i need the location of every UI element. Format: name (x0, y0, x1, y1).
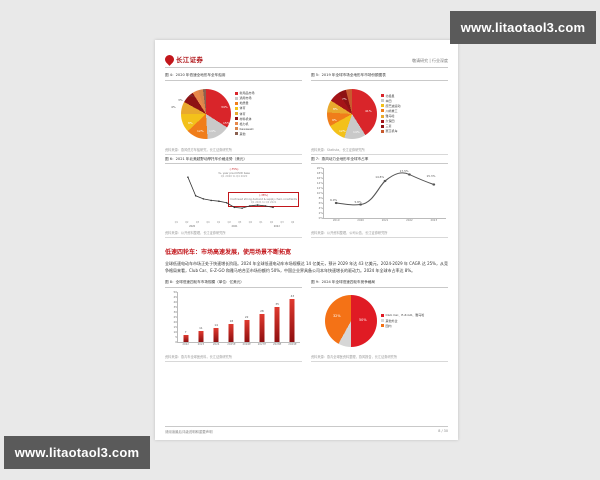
data-label: 5.8% (355, 200, 362, 204)
x-tick: 2023 (430, 219, 437, 222)
y-tick: 45 (173, 295, 177, 299)
figure-6-chart: (-75%) 3+ year pre-COVID base Q1 2020 to… (165, 166, 302, 228)
figure-5-chart: 北极星 本田 庞巴迪运动 川崎重工 雅马哈 久保田 三菱 赛艾机车 41% 14… (311, 83, 448, 145)
figure-4-title: 图 4：2020 年低速全地形车全车船用 (165, 73, 302, 78)
y-tick: 14% (317, 181, 323, 185)
body-paragraph: 全球低速电动车市场正处于快速增长阶段。2024 年全球低速电动车市场规模达 14… (165, 260, 448, 274)
figure-4-source-rule (165, 154, 302, 155)
x-tick: 2024 (213, 343, 220, 346)
x-tick: 2028E (273, 343, 281, 346)
legend-label: 三菱 (386, 124, 392, 128)
y-tick: 6% (319, 201, 323, 205)
figure-4-legend: 新用品市场 通用市场 地质量 体育 体育 材料机体 格力机 Kawasaki 其… (235, 91, 255, 136)
figure-8: 图 8：全球低速四轮车市场规模（单位：亿美元） 50 45 40 35 30 2… (165, 280, 302, 362)
legend-swatch (381, 104, 384, 107)
bar-value: 28 (260, 309, 264, 313)
legend-swatch (381, 115, 384, 118)
figure-8-chart: 50 45 40 35 30 25 20 15 10 5 0 7 11 14 (165, 290, 302, 352)
bar-value: 22 (245, 315, 249, 319)
x-tick: Q3 (281, 221, 284, 224)
legend-label: 久保田 (386, 119, 395, 123)
figure-7-rule (311, 163, 448, 164)
bar-value: 11 (199, 326, 203, 330)
figure-7-source-rule (311, 237, 448, 238)
legend-swatch (235, 112, 238, 115)
figure-6: 图 6：2021 年北美越野动摩托车价格走势（美元） (-75%) 3+ yea… (165, 157, 302, 239)
x-tick: Q1 (175, 221, 178, 224)
y-tick: 35 (173, 305, 177, 309)
y-tick: 0% (319, 216, 323, 220)
legend-swatch (235, 102, 238, 105)
watermark-top: www.litaotaol3.com (450, 11, 596, 44)
figure-4: 图 4：2020 年低速全地形车全车船用 新用品市场 通用市场 地质量 体育 体… (165, 73, 302, 155)
y-tick: 20 (173, 320, 177, 324)
legend-label: 国内 (386, 324, 392, 328)
x-tick: Q2 (185, 221, 188, 224)
legend-swatch (381, 99, 384, 102)
header-divider (165, 67, 448, 68)
figure-6-rule (165, 163, 302, 164)
figure-9-title: 图 9：2024 年全球低速四轮车竞争格局 (311, 280, 448, 285)
figure-5-source: 资料来源：Statista，长江证券研究所 (311, 147, 448, 152)
y-tick: 2% (319, 211, 323, 215)
figure-8-source: 资料来源：燕青车全球医资料，长江证券研究所 (165, 354, 302, 359)
legend-swatch (381, 125, 384, 128)
legend-swatch (381, 314, 384, 317)
legend-swatch (235, 92, 238, 95)
legend-label: 材料机体 (240, 117, 252, 121)
page-header: 长江证券 敬请研究 | 行业深度 (165, 48, 448, 64)
logo-mark-icon (163, 53, 176, 66)
y-tick: 50 (173, 290, 177, 294)
bar-value: 43 (291, 294, 295, 298)
legend-swatch (381, 120, 384, 123)
legend-label: 体育 (240, 106, 246, 110)
figures-grid: 图 4：2020 年低速全地形车全车船用 新用品市场 通用市场 地质量 体育 体… (165, 73, 448, 238)
x-tick: 2026E (243, 343, 251, 346)
x-tick: Q1 (259, 221, 262, 224)
watermark-bottom: www.litaotaol3.com (4, 436, 150, 469)
x-tick: Q3 (238, 221, 241, 224)
legend-swatch (235, 97, 238, 100)
bar-value: 7 (185, 330, 187, 334)
x-tick: Q4 (249, 221, 252, 224)
x-tick: 2019 (333, 219, 340, 222)
bar-value: 14 (214, 323, 218, 327)
logo-text: 长江证券 (176, 54, 203, 64)
group-label: 2021 (231, 225, 237, 228)
legend-swatch (381, 130, 384, 133)
figure-7: 图 7：燕风动力全地形车全球市占率 20% 18% 16% 14% 12% 10… (311, 157, 448, 239)
y-tick: 10 (173, 330, 177, 334)
figure-9-source-rule (311, 361, 448, 362)
figure-9-rule (311, 287, 448, 288)
figure-5-title: 图 5：2019 年全球市场全地形车市场份额图表 (311, 73, 448, 78)
legend-swatch (235, 107, 238, 110)
x-tick: Q2 (228, 221, 231, 224)
y-tick: 4% (319, 206, 323, 210)
bar: 22 (244, 320, 249, 342)
x-tick: 2022 (182, 343, 189, 346)
pie-chart-5 (327, 89, 377, 139)
x-tick: Q4 (206, 221, 209, 224)
figure-4-rule (165, 80, 302, 81)
bar-value: 18 (230, 319, 234, 323)
figure-6-title: 图 6：2021 年北美越野动摩托车价格走势（美元） (165, 157, 302, 162)
figure-6-line (171, 171, 292, 219)
bar-value: 35 (275, 302, 279, 306)
figure-9: 图 9：2024 年全球低速四轮车竞争格局 Club Car、E-Z-GO、雅马… (311, 280, 448, 362)
legend-label: 其他外企 (386, 319, 398, 323)
x-tick: 2027E (258, 343, 266, 346)
legend-label: Kawasaki (240, 127, 254, 131)
figures-grid-lower: 图 8：全球低速四轮车市场规模（单位：亿美元） 50 45 40 35 30 2… (165, 280, 448, 362)
data-label: 15.3% (426, 174, 435, 178)
legend-label: 地质量 (240, 101, 249, 105)
legend-label: 赛艾机车 (386, 129, 398, 133)
figure-8-source-rule (165, 361, 302, 362)
bar: 28 (259, 314, 264, 342)
x-tick: Q3 (196, 221, 199, 224)
x-tick: Q1 (217, 221, 220, 224)
figure-8-title: 图 8：全球低速四轮车市场规模（单位：亿美元） (165, 280, 302, 285)
y-tick: 12% (317, 186, 323, 190)
legend-label: 川崎重工 (386, 109, 398, 113)
x-tick: Q2 (270, 221, 273, 224)
legend-swatch (235, 117, 238, 120)
figure-5-source-rule (311, 154, 448, 155)
legend-swatch (235, 122, 238, 125)
document-page: 长江证券 敬请研究 | 行业深度 图 4：2020 年低速全地形车全车船用 新用… (155, 40, 458, 440)
y-tick: 5 (175, 335, 177, 339)
y-tick: 30 (173, 310, 177, 314)
x-tick: 2021 (382, 219, 389, 222)
y-tick: 15 (173, 325, 177, 329)
document-viewer[interactable]: 长江证券 敬请研究 | 行业深度 图 4：2020 年低速全地形车全车船用 新用… (0, 0, 600, 480)
bar: 43 (290, 299, 295, 342)
figure-4-source: 资料来源：燕风低方车船研究，长江证券研究所 (165, 147, 302, 152)
legend-swatch (381, 324, 384, 327)
x-tick: 2025E (227, 343, 235, 346)
figure-5: 图 5：2019 年全球市场全地形车市场份额图表 北极星 本田 庞巴迪运动 川崎… (311, 73, 448, 155)
bar: 11 (198, 331, 203, 342)
bar: 18 (229, 324, 234, 342)
data-label: 17.5% (400, 169, 409, 173)
figure-4-chart: 新用品市场 通用市场 地质量 体育 体育 材料机体 格力机 Kawasaki 其… (165, 83, 302, 145)
x-tick: 2029E (288, 343, 296, 346)
legend-swatch (381, 109, 384, 112)
footer-divider (165, 426, 448, 427)
figure-9-source: 资料来源：燕青全球医资料整理，燕风报告，长江证券研究所 (311, 354, 448, 359)
bar: 35 (275, 307, 280, 342)
figure-5-rule (311, 80, 448, 81)
figure-6-source-rule (165, 237, 302, 238)
footer-page-number: 8 / 30 (438, 429, 448, 434)
y-tick: 8% (319, 196, 323, 200)
figure-8-rule (165, 287, 302, 288)
figure-9-chart: Club Car、E-Z-GO、雅马哈 其他外企 国内 50% 32% (311, 290, 448, 352)
y-tick: 16% (317, 176, 323, 180)
figure-7-chart: 20% 18% 16% 14% 12% 10% 8% 6% 4% 2% 0% (311, 166, 448, 228)
y-tick: 18% (317, 171, 323, 175)
page-footer: 请阅读最后评级说明和重要声明 8 / 30 (165, 426, 448, 434)
legend-swatch (381, 94, 384, 97)
figure-7-source: 资料来源：公开资料整理，公司公告，长江证券研究所 (311, 230, 448, 235)
legend-label: 本田 (386, 99, 392, 103)
bar: 14 (214, 328, 219, 342)
figure-8-axes: 50 45 40 35 30 25 20 15 10 5 0 7 11 14 (177, 292, 300, 343)
legend-label: 庞巴迪运动 (386, 104, 401, 108)
pie-chart-4 (181, 89, 231, 139)
header-right-label: 敬请研究 | 行业深度 (412, 58, 448, 64)
legend-label: 北极星 (386, 94, 395, 98)
legend-label: 雅马哈 (386, 114, 395, 118)
figure-6-source: 资料来源：公开资料整理，长江证券研究所 (165, 230, 302, 235)
legend-label: 通用市场 (240, 96, 252, 100)
figure-6-xticks: Q1 Q2 Q3 Q4 Q1 Q2 Q3 Q4 Q1 Q2 Q3 Q4 (171, 221, 298, 224)
pie-chart-9 (325, 295, 377, 347)
data-label: 14.8% (375, 175, 384, 179)
bar: 7 (183, 335, 188, 342)
y-tick: 20% (317, 166, 323, 170)
y-tick: 10% (317, 191, 323, 195)
x-tick: 2022 (406, 219, 413, 222)
x-tick: 2020 (357, 219, 364, 222)
y-tick: 25 (173, 315, 177, 319)
y-tick: 0 (175, 340, 177, 344)
figure-6-group-labels: 2020 2021 2022 (171, 225, 298, 228)
y-tick: 40 (173, 300, 177, 304)
section-heading: 低速四轮车：市场高速发展，使用场景不断拓宽 (165, 247, 448, 256)
data-label: 6.0% (330, 198, 337, 202)
x-tick: 2023 (198, 343, 205, 346)
legend-label: 新用品市场 (240, 91, 255, 95)
legend-swatch (235, 132, 238, 135)
figure-7-title: 图 7：燕风动力全地形车全球市占率 (311, 157, 448, 162)
legend-label: 体育 (240, 112, 246, 116)
figure-9-legend: Club Car、E-Z-GO、雅马哈 其他外企 国内 (381, 313, 424, 327)
group-label: 2022 (274, 225, 280, 228)
legend-label: 其他 (240, 132, 246, 136)
figure-7-axes: 20% 18% 16% 14% 12% 10% 8% 6% 4% 2% 0% (323, 168, 446, 219)
legend-swatch (235, 127, 238, 130)
x-tick: Q4 (291, 221, 294, 224)
legend-label: Club Car、E-Z-GO、雅马哈 (386, 313, 425, 317)
legend-label: 格力机 (240, 122, 249, 126)
figure-5-legend: 北极星 本田 庞巴迪运动 川崎重工 雅马哈 久保田 三菱 赛艾机车 (381, 94, 401, 134)
footer-disclaimer: 请阅读最后评级说明和重要声明 (165, 429, 212, 434)
legend-swatch (381, 319, 384, 322)
group-label: 2020 (189, 225, 195, 228)
company-logo: 长江证券 (165, 54, 203, 64)
